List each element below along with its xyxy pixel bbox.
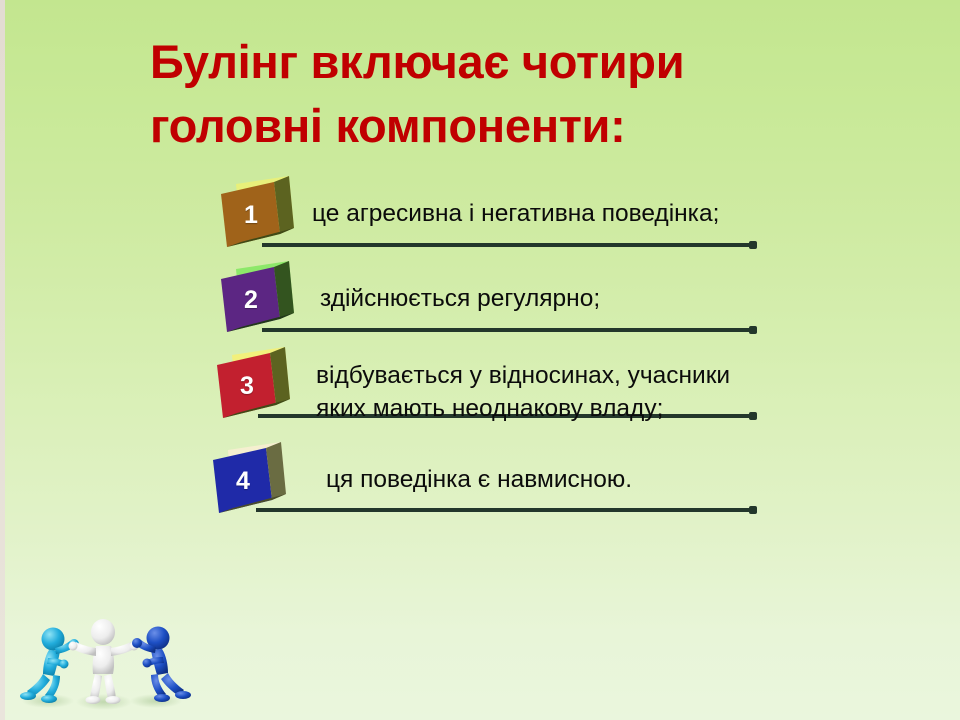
cube-icon	[208, 442, 286, 524]
cube-icon	[216, 261, 294, 343]
item-rule	[262, 243, 754, 247]
slide-canvas: Булінг включає чотири головні компоненти…	[0, 0, 960, 720]
cube-icon	[216, 176, 294, 258]
item-rule	[262, 328, 754, 332]
left-edge-strip	[0, 0, 5, 720]
center-figure	[69, 619, 139, 704]
item-text: здійснюється регулярно;	[320, 282, 880, 315]
left-figure	[20, 628, 79, 704]
three-figures-icon	[12, 596, 202, 714]
item-text: ця поведінка є навмисною.	[326, 463, 886, 496]
item-text: відбувається у відносинах, учасники яких…	[316, 359, 886, 425]
cube-number-badge: 3	[212, 347, 290, 429]
stick-figures-illustration	[12, 596, 202, 714]
item-rule	[256, 508, 754, 512]
cube-number-badge: 2	[216, 261, 294, 343]
right-figure	[132, 627, 191, 703]
cube-icon	[212, 347, 290, 429]
cube-number-badge: 1	[216, 176, 294, 258]
item-text: це агресивна і негативна поведінка;	[312, 197, 872, 230]
cube-number-badge: 4	[208, 442, 286, 524]
